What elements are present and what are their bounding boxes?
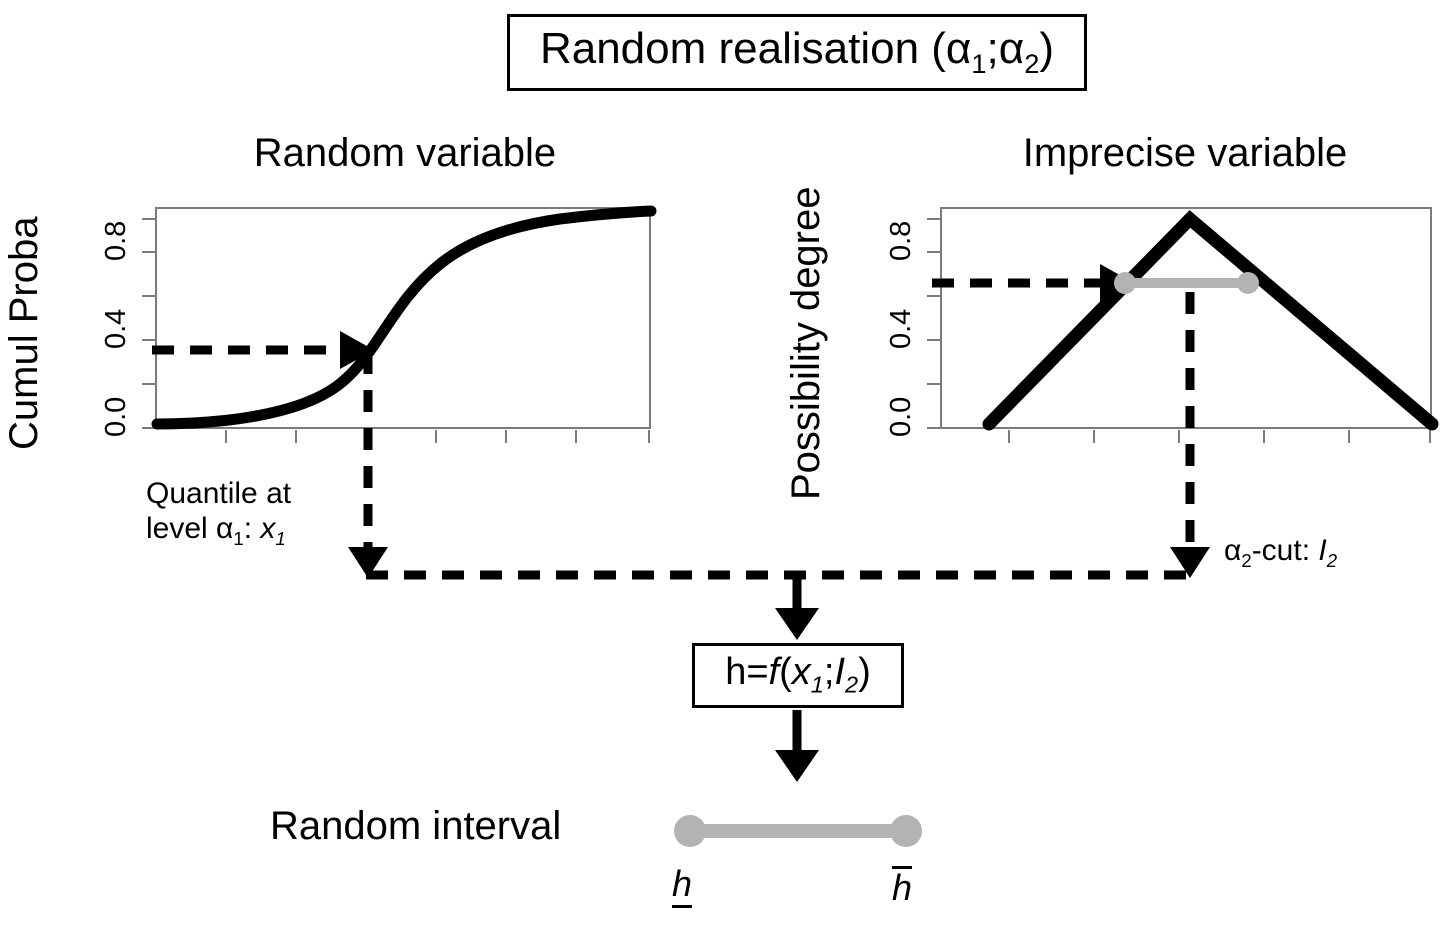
quantile-variable-subscript: 1 [275,528,285,549]
function-arg2-subscript: 2 [845,672,858,698]
random-interval-left-endpoint [674,815,706,847]
alpha1-symbol-annot: α [216,512,233,545]
right-ytick-label-2: 0.4 [887,309,916,349]
left-xtick-1 [295,430,297,443]
right-chart-y-axis-title: Possibility degree [786,187,826,501]
left-ytick-label-0: 0.0 [102,397,131,437]
quantile-variable: x [260,512,275,545]
right-ytick-4 [927,251,940,253]
title-box: Random realisation (α1;α2) [507,14,1087,91]
function-arg1-subscript: 1 [811,672,824,698]
left-ytick-4 [142,251,155,253]
left-ytick-1 [142,383,155,385]
right-xtick-2 [1178,430,1180,443]
right-ytick-5 [927,218,940,220]
combine-arrowhead [775,608,819,640]
left-ytick-label-4: 0.8 [102,221,131,261]
right-ytick-3 [927,295,940,297]
random-interval-right-endpoint [890,815,922,847]
alpha1-symbol: α [946,24,971,73]
left-chart-y-axis-title: Cumul Proba [4,217,44,450]
alpha1-subscript-annot: 1 [233,528,243,549]
right-xtick-4 [1348,430,1350,443]
title-text: Random realisation (α1;α2) [540,27,1054,77]
function-symbol: f [769,651,780,693]
left-chart-quantile-arrowhead [348,547,388,578]
left-chart-title: Random variable [140,133,670,173]
left-xtick-0 [225,430,227,443]
left-ytick-3 [142,295,155,297]
alpha2-symbol: α [999,24,1024,73]
result-arrowhead [775,750,819,782]
left-ytick-0 [142,427,155,429]
left-xtick-4 [505,430,507,443]
alpha-cut-annotation: α2-cut: I2 [1224,533,1337,572]
right-chart-plot-frame [940,207,1432,429]
alpha2-subscript-annot: 2 [1241,550,1251,571]
right-chart-title: Imprecise variable [930,133,1440,173]
function-arg1: x [792,651,811,693]
right-ytick-label-4: 0.8 [887,221,916,261]
left-xtick-2 [365,430,367,443]
left-xtick-3 [435,430,437,443]
interval-lower-bound-label: h [672,866,692,902]
left-xtick-5 [575,430,577,443]
left-ytick-5 [142,218,155,220]
quantile-annotation: Quantile at level α1: x1 [146,476,291,550]
interval-upper-bound-label: h [892,866,912,906]
quantile-annotation-line2: level α1: x1 [146,511,291,550]
alpha2-symbol-annot: α [1224,534,1241,567]
function-arg2: I [834,651,845,693]
left-xtick-6 [648,430,650,443]
alpha-cut-variable: I [1318,534,1326,567]
right-xtick-0 [1008,430,1010,443]
quantile-annotation-line1: Quantile at [146,476,291,511]
right-xtick-1 [1093,430,1095,443]
left-chart-plot-frame [155,207,651,429]
alpha-cut-variable-subscript: 2 [1327,550,1337,571]
alpha2-subscript: 2 [1024,48,1039,79]
right-ytick-0 [927,427,940,429]
right-ytick-label-0: 0.0 [887,397,916,437]
diagram-canvas: Random realisation (α1;α2) Random variab… [0,0,1448,933]
right-xtick-5 [1429,430,1431,443]
left-ytick-label-2: 0.4 [102,309,131,349]
alpha1-subscript: 1 [971,48,986,79]
right-chart-alphacut-arrowhead [1170,547,1210,578]
right-ytick-1 [927,383,940,385]
left-ytick-2 [142,339,155,341]
random-interval-label: Random interval [270,806,561,846]
right-ytick-2 [927,339,940,341]
function-box: h=f(x1;I2) [692,643,904,708]
function-expression: h=f(x1;I2) [725,653,871,697]
right-xtick-3 [1263,430,1265,443]
